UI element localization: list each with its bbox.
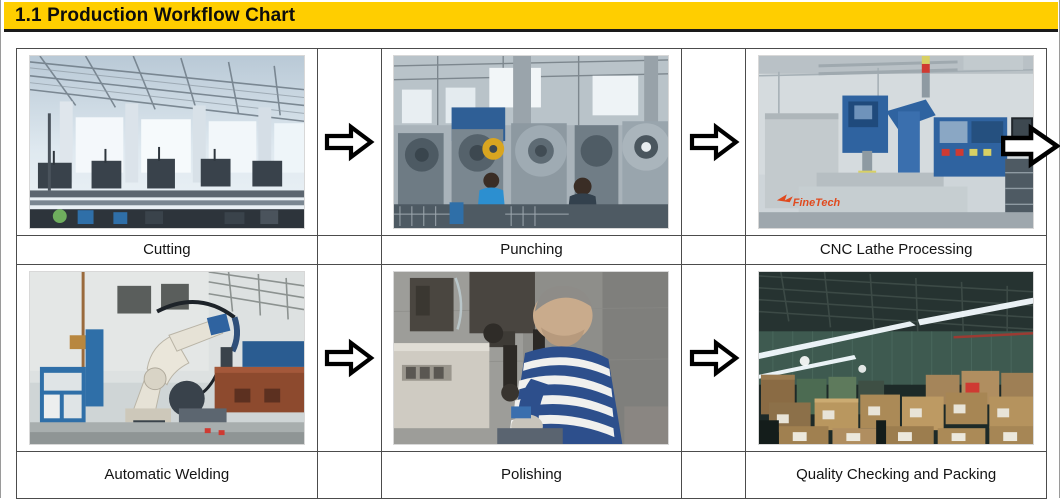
step-image-cell-cutting xyxy=(17,49,318,236)
arrow-label-spacer-1 xyxy=(317,236,381,265)
step-image-cell-quality-packing xyxy=(746,265,1047,452)
step-label-cell-cnc: CNC Lathe Processing xyxy=(746,236,1047,265)
step-label-cell-cutting: Cutting xyxy=(17,236,318,265)
step-image-cell-polishing xyxy=(381,265,682,452)
right-block-arrow-icon xyxy=(682,265,745,451)
step-label: CNC Lathe Processing xyxy=(746,240,1046,261)
photo-punching xyxy=(393,55,669,229)
right-block-arrow-icon xyxy=(682,49,745,235)
step-label: Polishing xyxy=(382,465,682,486)
arrow-cell-3 xyxy=(317,265,381,452)
step-label: Quality Checking and Packing xyxy=(746,465,1046,486)
right-block-arrow-icon xyxy=(318,49,381,235)
page-canvas: 1.1 Production Workflow Chart xyxy=(0,0,1060,498)
arrow-label-spacer-4 xyxy=(682,452,746,499)
photo-polishing xyxy=(393,271,669,445)
arrow-cell-4 xyxy=(682,265,746,452)
step-label: Automatic Welding xyxy=(17,465,317,486)
trailing-right-block-arrow-icon xyxy=(1001,122,1060,170)
table-row: Automatic Welding Polishing Quality Chec… xyxy=(17,452,1047,499)
table-row xyxy=(17,265,1047,452)
photo-quality-checking-packing xyxy=(758,271,1034,445)
step-image-cell-welding xyxy=(17,265,318,452)
page-title: 1.1 Production Workflow Chart xyxy=(15,5,295,27)
step-image-cell-punching xyxy=(381,49,682,236)
photo-automatic-welding xyxy=(29,271,305,445)
production-workflow-table: FineTech Cutting Punching CNC Lathe Proc… xyxy=(16,48,1047,499)
arrow-cell-2 xyxy=(682,49,746,236)
photo-cnc-lathe: FineTech xyxy=(758,55,1034,229)
arrow-label-spacer-2 xyxy=(682,236,746,265)
step-label-cell-polishing: Polishing xyxy=(381,452,682,499)
step-label-cell-punching: Punching xyxy=(381,236,682,265)
step-label: Punching xyxy=(382,240,682,261)
table-row: FineTech xyxy=(17,49,1047,236)
step-label: Cutting xyxy=(17,240,317,261)
arrow-cell-1 xyxy=(317,49,381,236)
step-label-cell-welding: Automatic Welding xyxy=(17,452,318,499)
section-banner: 1.1 Production Workflow Chart xyxy=(4,2,1058,32)
photo-cutting xyxy=(29,55,305,229)
svg-text:FineTech: FineTech xyxy=(793,197,841,209)
arrow-label-spacer-3 xyxy=(317,452,381,499)
table-row: Cutting Punching CNC Lathe Processing xyxy=(17,236,1047,265)
step-label-cell-quality-packing: Quality Checking and Packing xyxy=(746,452,1047,499)
right-block-arrow-icon xyxy=(318,265,381,451)
